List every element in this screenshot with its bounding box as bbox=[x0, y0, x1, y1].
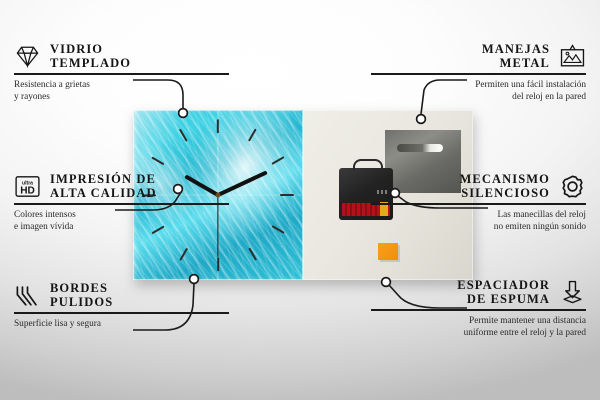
feature-impresion-alta-calidad[interactable]: ultra HD IMPRESIÓN DE ALTA CALIDAD Color… bbox=[14, 172, 229, 234]
diamond-icon bbox=[14, 43, 41, 70]
feature-mecanismo-silencioso[interactable]: MECANISMO SILENCIOSO Las manecillas del … bbox=[371, 172, 586, 234]
feature-rule bbox=[14, 73, 229, 75]
feature-subtitle: Colores intensos e imagen vívida bbox=[14, 209, 229, 234]
feature-titles: VIDRIO TEMPLADO bbox=[50, 42, 131, 70]
feature-rule bbox=[371, 309, 586, 311]
feature-titles: ESPACIADOR DE ESPUMA bbox=[457, 278, 550, 306]
feature-titles: IMPRESIÓN DE ALTA CALIDAD bbox=[50, 172, 157, 200]
feature-bordes-pulidos[interactable]: BORDES PULIDOS Superficie lisa y segura bbox=[14, 281, 229, 330]
feature-title-line1: BORDES bbox=[50, 281, 113, 295]
feature-title-line2: SILENCIOSO bbox=[460, 186, 550, 200]
feature-subtitle-line1: Colores intensos bbox=[14, 209, 229, 222]
feature-subtitle: Las manecillas del reloj no emiten ningú… bbox=[371, 209, 586, 234]
feature-header: ultra HD IMPRESIÓN DE ALTA CALIDAD bbox=[14, 172, 229, 200]
gear-icon bbox=[559, 173, 586, 200]
infographic-canvas: VIDRIO TEMPLADO Resistencia a grietas y … bbox=[0, 0, 600, 400]
feature-subtitle-line1: Permiten una fácil instalación bbox=[371, 79, 586, 92]
feature-header: BORDES PULIDOS bbox=[14, 281, 229, 309]
feature-title-line1: VIDRIO bbox=[50, 42, 131, 56]
feature-title-line1: ESPACIADOR bbox=[457, 278, 550, 292]
diagonal-stripes-icon bbox=[14, 282, 41, 309]
feature-rule bbox=[371, 203, 586, 205]
feature-titles: MANEJAS METAL bbox=[482, 42, 550, 70]
hanger-slot bbox=[397, 144, 443, 152]
feature-header: MANEJAS METAL bbox=[371, 42, 586, 70]
feature-titles: BORDES PULIDOS bbox=[50, 281, 113, 309]
feature-rule bbox=[371, 73, 586, 75]
feature-subtitle: Permiten una fácil instalación del reloj… bbox=[371, 79, 586, 104]
feature-title-line2: DE ESPUMA bbox=[457, 292, 550, 306]
feature-rule bbox=[14, 203, 229, 205]
feature-title-line2: TEMPLADO bbox=[50, 56, 131, 70]
feature-subtitle-line2: y rayones bbox=[14, 91, 229, 104]
feature-subtitle-line2: del reloj en la pared bbox=[371, 91, 586, 104]
feature-title-line1: MANEJAS bbox=[482, 42, 550, 56]
feature-espaciador-espuma[interactable]: ESPACIADOR DE ESPUMA Permite mantener un… bbox=[371, 278, 586, 340]
feature-title-line2: ALTA CALIDAD bbox=[50, 186, 157, 200]
feature-subtitle-line1: Resistencia a grietas bbox=[14, 79, 229, 92]
feature-title-line2: PULIDOS bbox=[50, 295, 113, 309]
feature-subtitle: Permite mantener una distancia uniforme … bbox=[371, 315, 586, 340]
clock-hub bbox=[216, 193, 221, 198]
arrow-down-pad-icon bbox=[559, 279, 586, 306]
mechanism-hanger-loop bbox=[353, 159, 383, 172]
hd-label: HD bbox=[20, 185, 35, 196]
clock-tick bbox=[217, 257, 219, 271]
feature-subtitle-line1: Superficie lisa y segura bbox=[14, 318, 229, 331]
feature-title-line2: METAL bbox=[482, 56, 550, 70]
feature-subtitle-line2: e imagen vívida bbox=[14, 221, 229, 234]
feature-header: MECANISMO SILENCIOSO bbox=[371, 172, 586, 200]
framed-picture-icon bbox=[559, 43, 586, 70]
feature-titles: MECANISMO SILENCIOSO bbox=[460, 172, 550, 200]
feature-title-line1: MECANISMO bbox=[460, 172, 550, 186]
feature-manejas-metal[interactable]: MANEJAS METAL Permiten una fácil instala… bbox=[371, 42, 586, 104]
feature-subtitle: Superficie lisa y segura bbox=[14, 318, 229, 331]
feature-rule bbox=[14, 312, 229, 314]
feature-header: ESPACIADOR DE ESPUMA bbox=[371, 278, 586, 306]
feature-subtitle-line2: uniforme entre el reloj y la pared bbox=[371, 327, 586, 340]
feature-subtitle-line1: Permite mantener una distancia bbox=[371, 315, 586, 328]
feature-title-line1: IMPRESIÓN DE bbox=[50, 172, 157, 186]
ultra-hd-icon: ultra HD bbox=[14, 173, 41, 200]
feature-subtitle-line2: no emiten ningún sonido bbox=[371, 221, 586, 234]
foam-spacer bbox=[378, 243, 398, 260]
feature-vidrio-templado[interactable]: VIDRIO TEMPLADO Resistencia a grietas y … bbox=[14, 42, 229, 104]
feature-header: VIDRIO TEMPLADO bbox=[14, 42, 229, 70]
feature-subtitle: Resistencia a grietas y rayones bbox=[14, 79, 229, 104]
feature-subtitle-line1: Las manecillas del reloj bbox=[371, 209, 586, 222]
